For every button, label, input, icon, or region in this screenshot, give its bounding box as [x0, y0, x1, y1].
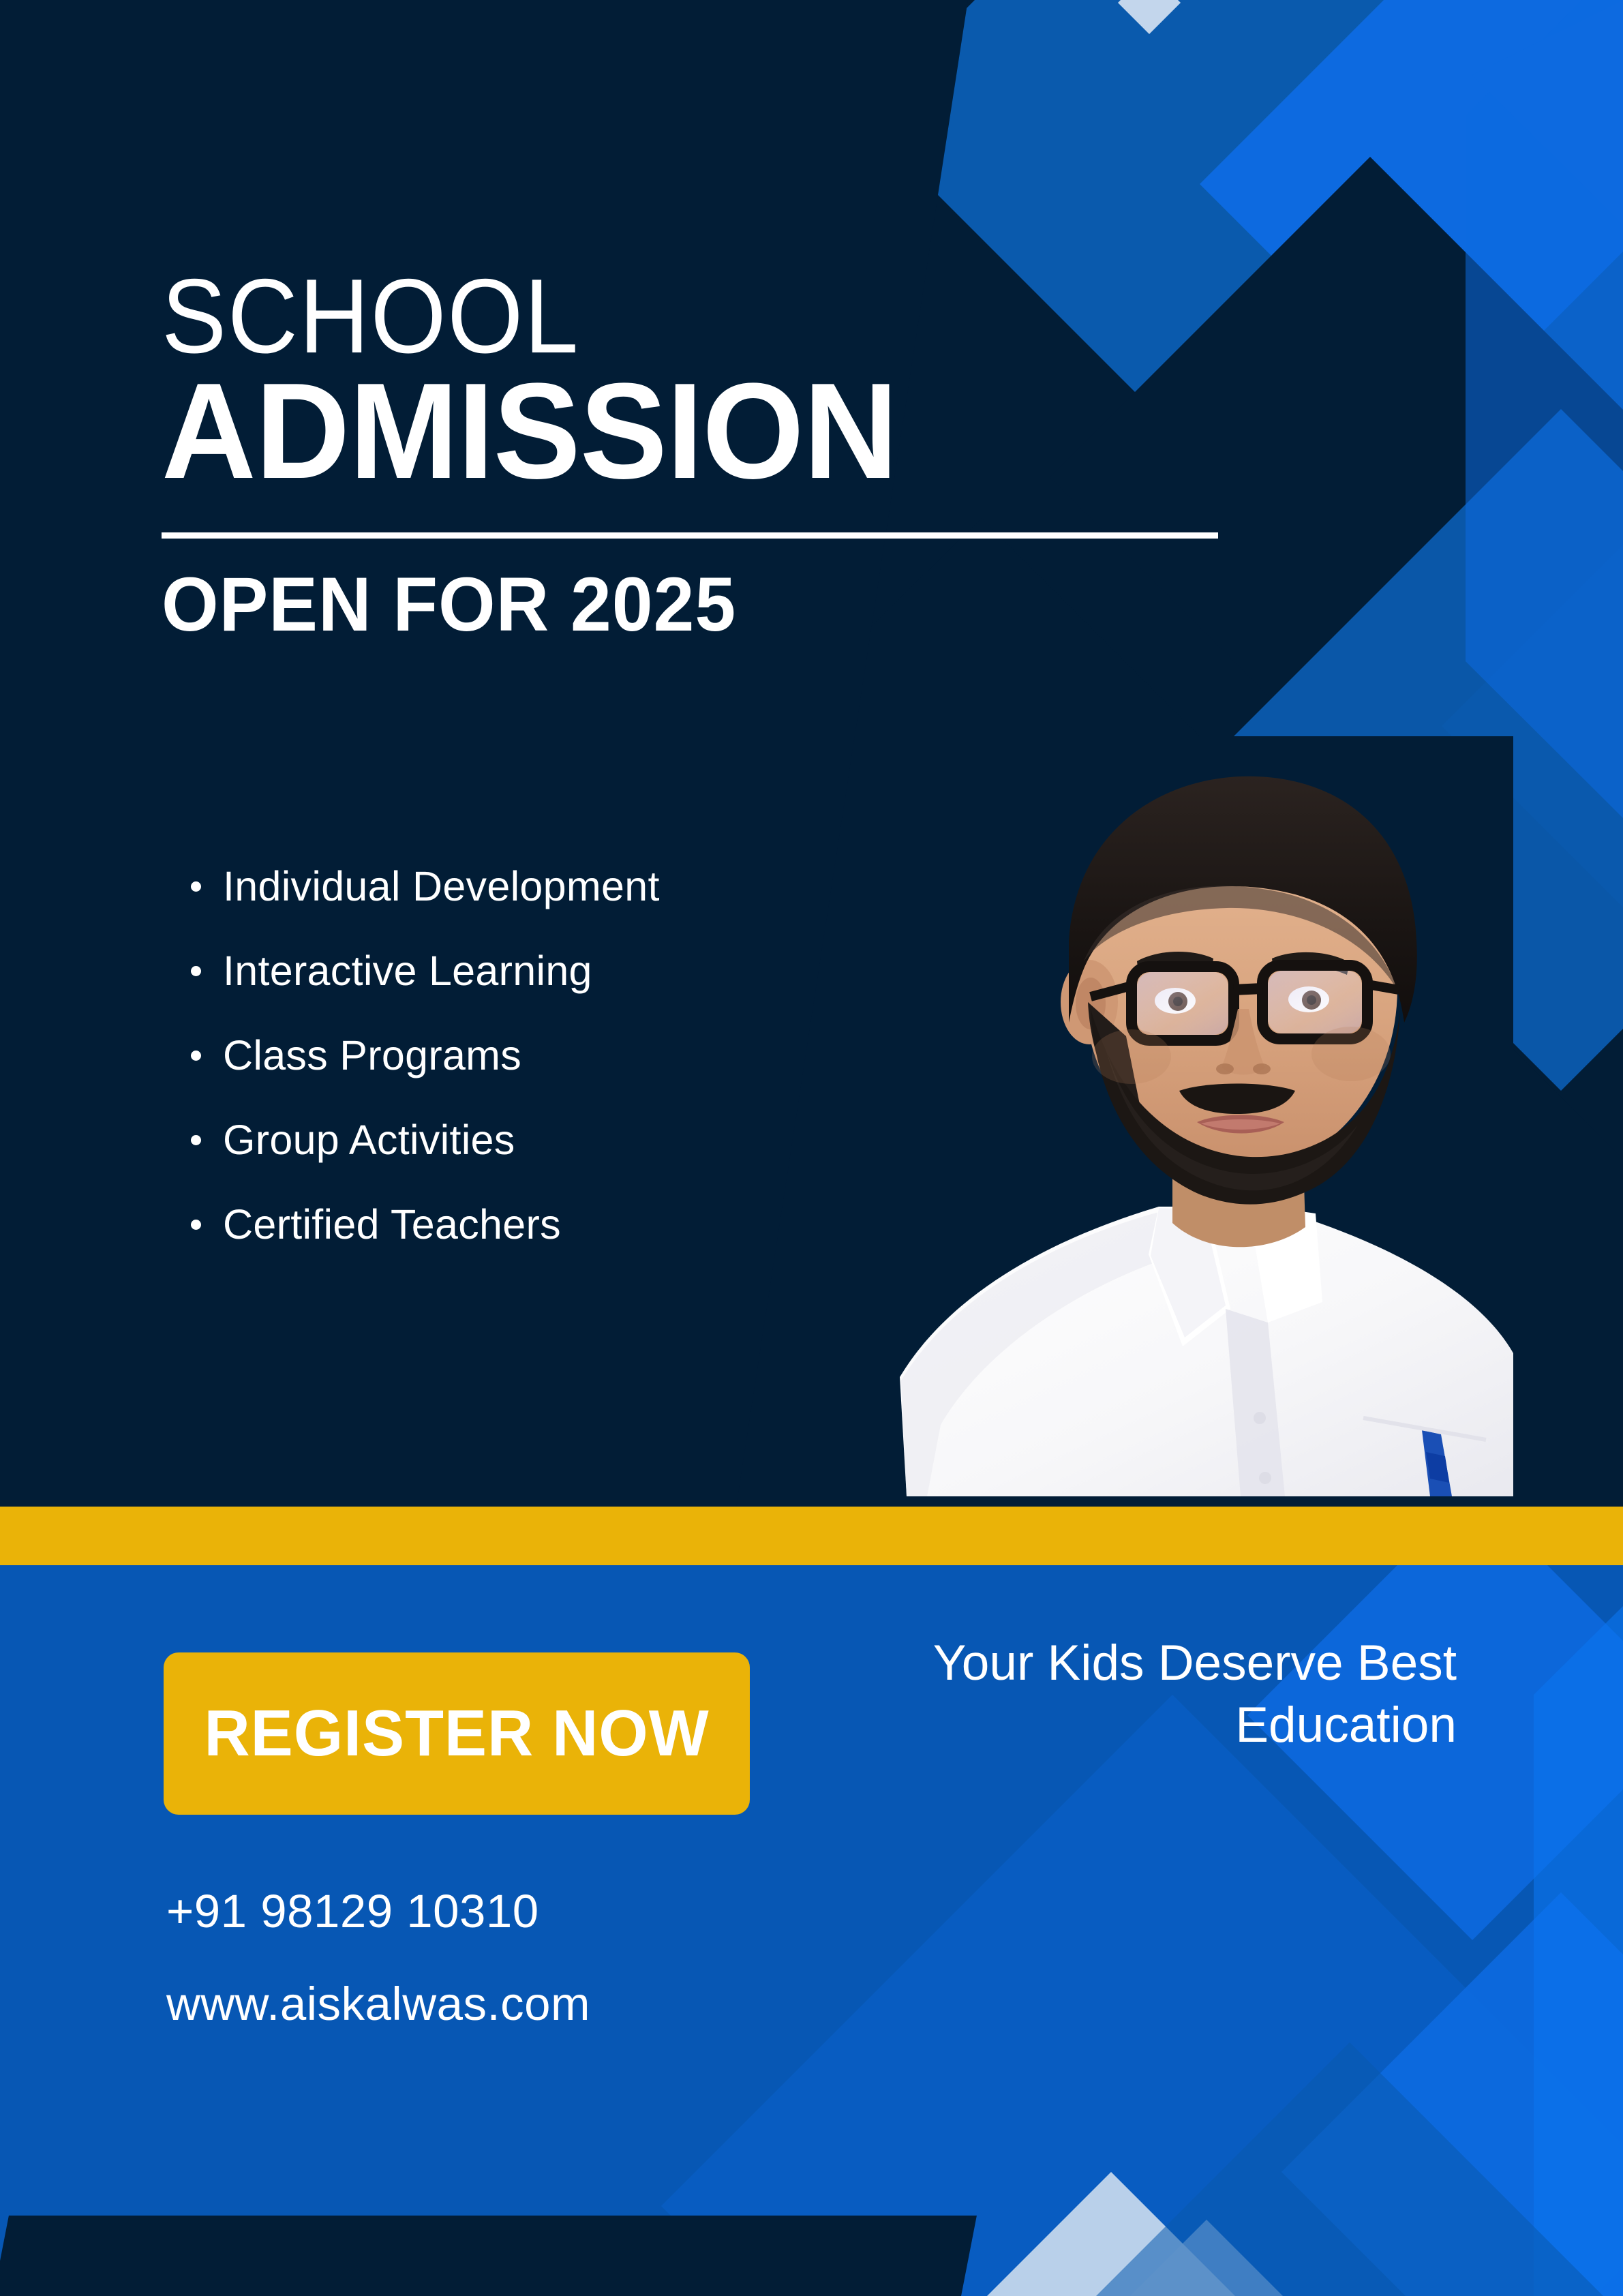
top-section: SCHOOL ADMISSION OPEN FOR 2025 Individua… — [0, 0, 1623, 1507]
list-item: Individual Development — [191, 866, 660, 907]
portrait-illustration — [886, 736, 1513, 1496]
slab-bright-right-edge — [1534, 1606, 1623, 2296]
list-item: Group Activities — [191, 1119, 660, 1161]
register-button-label: REGISTER NOW — [204, 1696, 709, 1771]
bottom-section: REGISTER NOW Your Kids Deserve Best Educ… — [0, 1565, 1623, 2296]
portrait-photo — [886, 736, 1513, 1496]
feature-list: Individual Development Interactive Learn… — [191, 866, 660, 1288]
bullet-dot-icon — [191, 1220, 201, 1230]
feature-label: Certified Teachers — [223, 1204, 561, 1245]
register-now-button[interactable]: REGISTER NOW — [164, 1652, 750, 1815]
phone-number[interactable]: +91 98129 10310 — [166, 1884, 539, 1938]
feature-label: Interactive Learning — [223, 950, 592, 992]
headline-divider-rule — [162, 532, 1218, 539]
bullet-dot-icon — [191, 881, 201, 892]
feature-label: Individual Development — [223, 866, 660, 907]
list-item: Class Programs — [191, 1035, 660, 1076]
poster-canvas: SCHOOL ADMISSION OPEN FOR 2025 Individua… — [0, 0, 1623, 2296]
headline-admission: ADMISSION — [162, 362, 1209, 501]
bullet-dot-icon — [191, 966, 201, 976]
website-url[interactable]: www.aiskalwas.com — [166, 1977, 590, 2031]
tagline-text: Your Kids Deserve Best Education — [782, 1632, 1457, 1757]
footer-dark-band — [0, 2216, 977, 2296]
feature-label: Class Programs — [223, 1035, 521, 1076]
yellow-divider-band — [0, 1507, 1623, 1565]
feature-label: Group Activities — [223, 1119, 515, 1161]
list-item: Interactive Learning — [191, 950, 660, 992]
bullet-dot-icon — [191, 1135, 201, 1145]
headline-block: SCHOOL ADMISSION OPEN FOR 2025 — [162, 266, 1252, 645]
headline-school: SCHOOL — [162, 266, 1165, 366]
headline-open-for-year: OPEN FOR 2025 — [162, 564, 1209, 645]
list-item: Certified Teachers — [191, 1204, 660, 1245]
bullet-dot-icon — [191, 1051, 201, 1061]
